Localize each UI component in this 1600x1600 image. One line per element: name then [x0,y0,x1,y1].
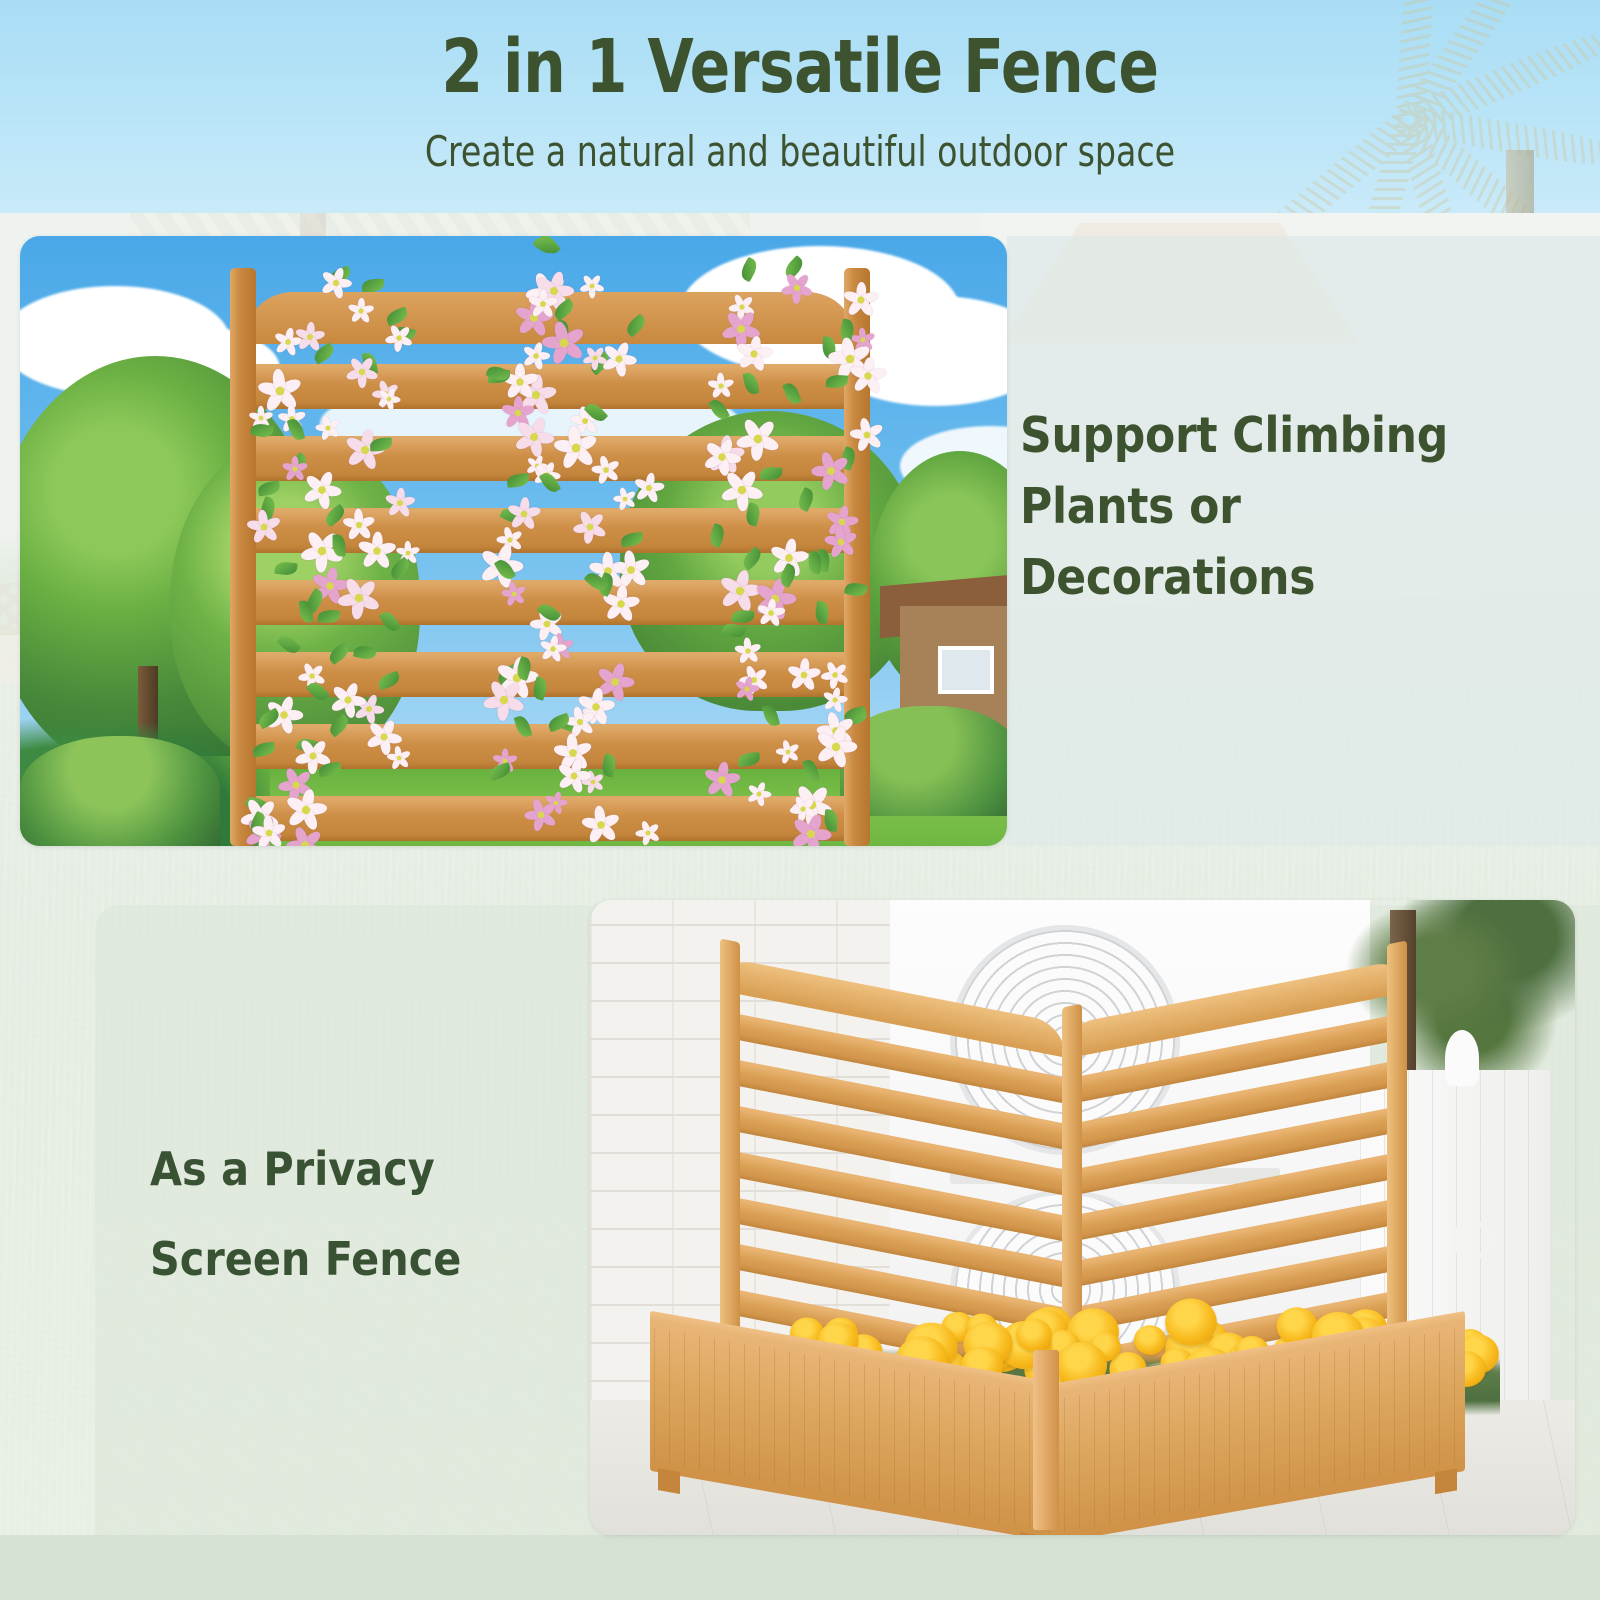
photo-trellis-climbing-plants [20,236,1007,846]
clematis-flower [347,297,375,325]
footer-overlay-strip [0,1535,1600,1600]
page-title: 2 in 1 Versatile Fence [80,24,1520,110]
post-finial [1445,1030,1479,1086]
clematis-flower [848,356,888,396]
planter-leg [1435,1468,1457,1494]
clematis-flower [383,486,416,519]
cottage-window [938,646,994,694]
clematis-flower [755,597,787,629]
marigold-bloom [1016,1318,1052,1351]
feature-line: Support Climbing [1020,400,1580,471]
clematis-flower [631,470,667,506]
trellis-post-left [230,268,256,846]
photo-privacy-screen-fence [590,900,1575,1535]
clematis-flower [527,289,558,320]
feature-text-privacy-screen: As a Privacy Screen Fence [150,1125,620,1304]
clematis-flower [357,531,398,572]
palm-trunk [1506,150,1534,213]
planter-corner-post [1033,1350,1059,1530]
feature-line: Plants or [1020,471,1580,542]
clematis-flower [733,333,775,375]
page-subtitle: Create a natural and beautiful outdoor s… [96,127,1504,176]
clematis-flower [281,456,307,482]
feature-line: Screen Fence [150,1215,620,1305]
clematis-flower [842,281,879,318]
feature-line: As a Privacy [150,1125,620,1215]
planter-leg [658,1468,680,1494]
feature-line: Decorations [1020,542,1580,613]
header-band: 2 in 1 Versatile Fence Create a natural … [0,0,1600,213]
decorative-ring [1452,1220,1492,1260]
feature-text-climbing-plants: Support Climbing Plants or Decorations [1020,400,1580,613]
hedge [20,736,220,846]
product-infographic: 2 in 1 Versatile Fence Create a natural … [0,0,1600,1600]
clematis-flower [702,759,744,801]
clematis-flower [786,656,823,693]
